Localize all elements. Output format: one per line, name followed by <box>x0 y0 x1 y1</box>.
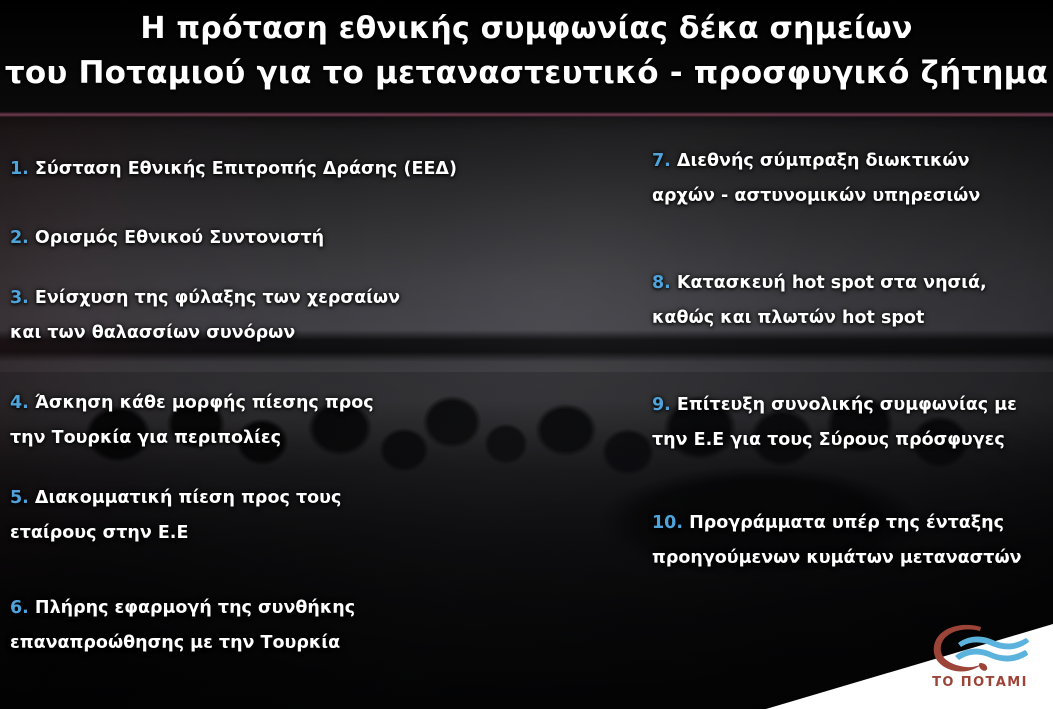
list-item-text: Πλήρης εφαρμογή της συνθήκης <box>35 598 355 618</box>
list-item-text: Προγράμματα υπέρ της ένταξης <box>689 513 1004 533</box>
party-logo: ΤΟ ΠΟΤΑΜΙ <box>921 619 1039 705</box>
list-item-text: Ορισμός Εθνικού Συντονιστή <box>35 228 324 248</box>
page-title-line-2: του Ποταμιού για το μεταναστευτικό - προ… <box>0 51 1053 96</box>
list-item-text-cont: επαναπροώθησης με την Τουρκία <box>10 626 430 661</box>
list-item-text: Σύσταση Εθνικής Επιτροπής Δράσης (ΕΕΔ) <box>35 159 457 179</box>
list-item: 9. Επίτευξη συνολικής συμφωνίας με την Ε… <box>652 388 1042 458</box>
list-item: 5. Διακομματική πίεση προς τους εταίρους… <box>10 481 410 551</box>
title-divider-rule <box>0 112 1053 117</box>
page-title-line-1: Η πρόταση εθνικής συμφωνίας δέκα σημείων <box>0 6 1053 51</box>
list-item: 7. Διεθνής σύμπραξη διωκτικών αρχών - ασ… <box>652 144 1042 214</box>
list-item-text-cont: καθώς και πλωτών hot spot <box>652 301 1042 336</box>
list-item-text-cont: εταίρους στην Ε.Ε <box>10 516 410 551</box>
logo-wordmark: ΤΟ ΠΟΤΑΜΙ <box>921 675 1039 690</box>
list-item-text-cont: αρχών - αστυνομικών υπηρεσιών <box>652 179 1042 214</box>
list-item-number: 9. <box>652 395 671 415</box>
list-item-text-cont: την Ε.Ε για τους Σύρους πρόσφυγες <box>652 423 1042 458</box>
list-item-number: 7. <box>652 151 671 171</box>
list-item: 4. Άσκηση κάθε μορφής πίεσης προς την Το… <box>10 386 430 456</box>
list-item: 3. Ενίσχυση της φύλαξης των χερσαίων και… <box>10 281 480 351</box>
list-item: 2. Ορισμός Εθνικού Συντονιστή <box>10 221 324 256</box>
list-item: 8. Κατασκευή hot spot στα νησιά, καθώς κ… <box>652 266 1042 336</box>
logo-mark <box>925 619 1033 677</box>
list-item-number: 4. <box>10 393 29 413</box>
list-item-number: 6. <box>10 598 29 618</box>
list-item: 10. Προγράμματα υπέρ της ένταξης προηγού… <box>652 506 1052 576</box>
list-item-text: Άσκηση κάθε μορφής πίεσης προς <box>35 393 374 413</box>
list-item-text: Διακομματική πίεση προς τους <box>35 488 341 508</box>
list-item-text-cont: προηγούμενων κυμάτων μεταναστών <box>652 541 1052 576</box>
list-item-number: 8. <box>652 273 671 293</box>
list-item-number: 2. <box>10 228 29 248</box>
list-item: 1. Σύσταση Εθνικής Επιτροπής Δράσης (ΕΕΔ… <box>10 152 457 187</box>
list-item: 6. Πλήρης εφαρμογή της συνθήκης επαναπρο… <box>10 591 430 661</box>
list-item-text-cont: την Τουρκία για περιπολίες <box>10 421 430 456</box>
list-item-text: Ενίσχυση της φύλαξης των χερσαίων <box>35 288 400 308</box>
river-logo-icon <box>925 619 1033 677</box>
list-item-number: 5. <box>10 488 29 508</box>
list-item-number: 10. <box>652 513 683 533</box>
list-item-text: Διεθνής σύμπραξη διωκτικών <box>677 151 970 171</box>
list-item-number: 3. <box>10 288 29 308</box>
list-item-text: Επίτευξη συνολικής συμφωνίας με <box>677 395 1017 415</box>
list-item-text: Κατασκευή hot spot στα νησιά, <box>677 273 987 293</box>
list-item-text-cont: και των θαλασσίων συνόρων <box>10 316 480 351</box>
list-item-number: 1. <box>10 159 29 179</box>
poster-root: Η πρόταση εθνικής συμφωνίας δέκα σημείων… <box>0 0 1053 709</box>
page-title: Η πρόταση εθνικής συμφωνίας δέκα σημείων… <box>0 6 1053 96</box>
